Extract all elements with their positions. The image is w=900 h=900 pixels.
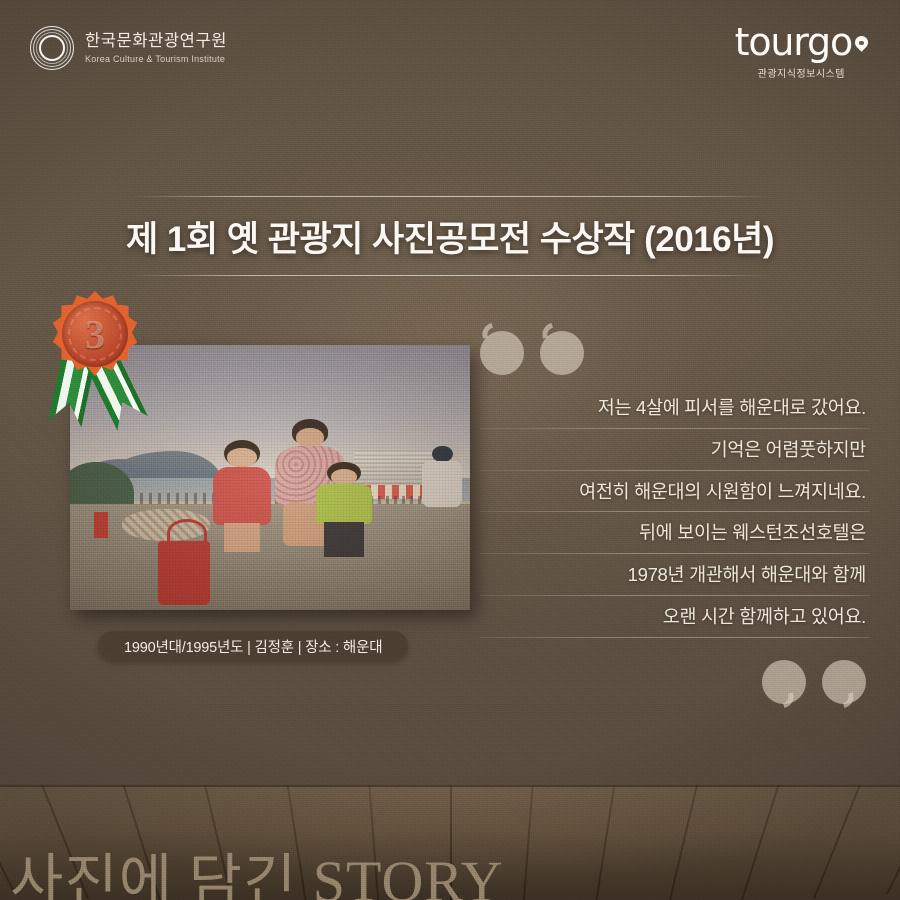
- photo-caption: 1990년대/1995년도 | 김정훈 | 장소 : 해운대: [98, 631, 408, 661]
- tourgo-logo: tourgo 관광지식정보시스템: [735, 24, 868, 80]
- footer-story-text: 사진에 담긴 STORY: [10, 834, 504, 900]
- institute-name-en: Korea Culture & Tourism Institute: [85, 54, 227, 64]
- map-pin-icon: [855, 36, 868, 53]
- title-divider-bottom: [130, 275, 770, 276]
- quote-block: 저는 4살에 피서를 해운대로 갔어요. 기억은 어렴풋하지만 여전히 해운대의…: [480, 325, 870, 708]
- quote-line: 오랜 시간 함께하고 있어요.: [480, 596, 870, 638]
- award-rank-number: 3: [62, 301, 128, 367]
- institute-logo: 한국문화관광연구원 Korea Culture & Tourism Instit…: [30, 26, 227, 70]
- tourgo-wordmark: tourgo: [735, 24, 852, 60]
- concentric-ring-logo-icon: [30, 26, 74, 70]
- close-quote-icon: [480, 660, 870, 708]
- quote-line: 여전히 해운대의 시원함이 느껴지네요.: [480, 471, 870, 513]
- quote-line: 기억은 어렴풋하지만: [480, 429, 870, 471]
- institute-name-kr: 한국문화관광연구원: [85, 32, 227, 50]
- tourgo-subtitle: 관광지식정보시스템: [735, 65, 868, 80]
- quote-line: 1978년 개관해서 해운대와 함께: [480, 554, 870, 596]
- quote-line: 저는 4살에 피서를 해운대로 갔어요.: [480, 387, 870, 429]
- open-quote-icon: [480, 325, 870, 373]
- photo-block: 3: [70, 345, 470, 610]
- title-block: 제 1회 옛 관광지 사진공모전 수상작 (2016년): [0, 196, 900, 276]
- quote-lines: 저는 4살에 피서를 해운대로 갔어요. 기억은 어렴풋하지만 여전히 해운대의…: [480, 387, 870, 638]
- page-title: 제 1회 옛 관광지 사진공모전 수상작 (2016년): [0, 197, 900, 275]
- wooden-deck: 사진에 담긴 STORY: [0, 785, 900, 900]
- bronze-medal-ribbon-icon: 3: [38, 287, 188, 437]
- quote-line: 뒤에 보이는 웨스턴조선호텔은: [480, 512, 870, 554]
- poster-canvas: 한국문화관광연구원 Korea Culture & Tourism Instit…: [0, 0, 900, 900]
